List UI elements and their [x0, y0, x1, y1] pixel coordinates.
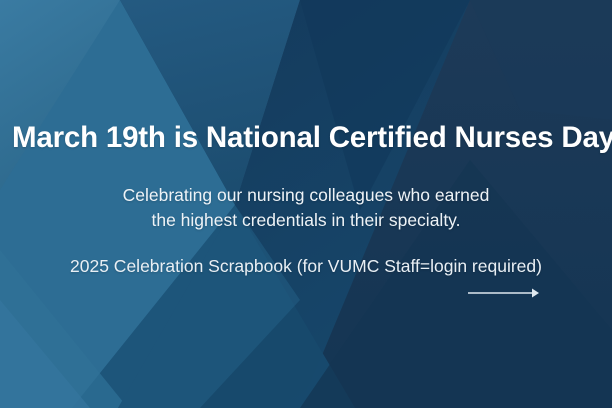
- page-title: March 19th is National Certified Nurses …: [12, 120, 604, 156]
- subtitle-line-2: the highest credentials in their special…: [0, 208, 612, 233]
- scrapbook-link[interactable]: 2025 Celebration Scrapbook (for VUMC Sta…: [0, 254, 612, 278]
- subtitle-block: Celebrating our nursing colleagues who e…: [0, 183, 612, 232]
- nurses-day-banner: March 19th is National Certified Nurses …: [0, 0, 612, 408]
- arrow-right-icon[interactable]: [466, 284, 540, 302]
- arrow-right-container[interactable]: [466, 284, 540, 302]
- subtitle-line-1: Celebrating our nursing colleagues who e…: [0, 183, 612, 208]
- banner-content: March 19th is National Certified Nurses …: [0, 0, 612, 408]
